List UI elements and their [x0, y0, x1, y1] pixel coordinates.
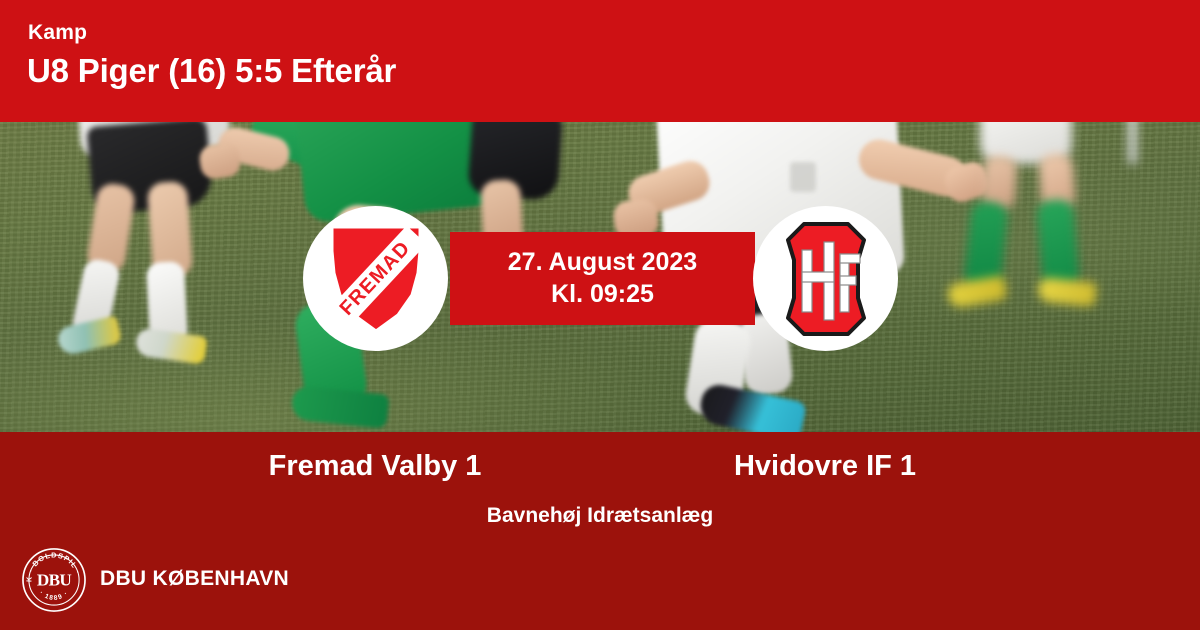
footer-bar: DANSK · BOLDSPIL · UNION · 1889 · DBU DB… — [0, 545, 1200, 630]
page-title: U8 Piger (16) 5:5 Efterår — [27, 52, 396, 90]
player-hand — [198, 141, 242, 180]
player-boot — [946, 275, 1007, 309]
kicker-label: Kamp — [28, 21, 87, 45]
svg-text:DBU: DBU — [37, 570, 72, 589]
player-boot — [134, 327, 207, 364]
player-boot — [290, 385, 389, 429]
organisation-name: DBU KØBENHAVN — [100, 567, 289, 591]
home-team-name: Fremad Valby 1 — [155, 450, 595, 483]
goal-post — [1128, 122, 1137, 164]
away-crest-badge — [753, 206, 898, 351]
dbu-seal-icon: DANSK · BOLDSPIL · UNION · 1889 · DBU — [21, 547, 87, 613]
header-bar: Kamp U8 Piger (16) 5:5 Efterår — [0, 0, 1200, 122]
team-names-row: Fremad Valby 1 Hvidovre IF 1 — [0, 450, 1200, 492]
away-team-name: Hvidovre IF 1 — [605, 450, 1045, 483]
player-sock — [1036, 199, 1080, 290]
svg-text:· 1889 ·: · 1889 · — [38, 590, 70, 602]
player-boot — [56, 315, 123, 356]
match-time: Kl. 09:25 — [551, 280, 654, 310]
player-boot — [1037, 277, 1097, 307]
jersey-crest — [790, 162, 816, 192]
hvidovre-if-crest-icon — [774, 220, 878, 338]
match-date: 27. August 2023 — [508, 248, 697, 278]
venue-name: Bavnehøj Idrætsanlæg — [0, 504, 1200, 528]
home-crest-badge: FREMAD — [303, 206, 448, 351]
fremad-valby-crest-icon: FREMAD — [322, 221, 430, 337]
match-datetime-banner: 27. August 2023 Kl. 09:25 — [450, 232, 755, 325]
match-card: Kamp U8 Piger (16) 5:5 Efterår — [0, 0, 1200, 630]
